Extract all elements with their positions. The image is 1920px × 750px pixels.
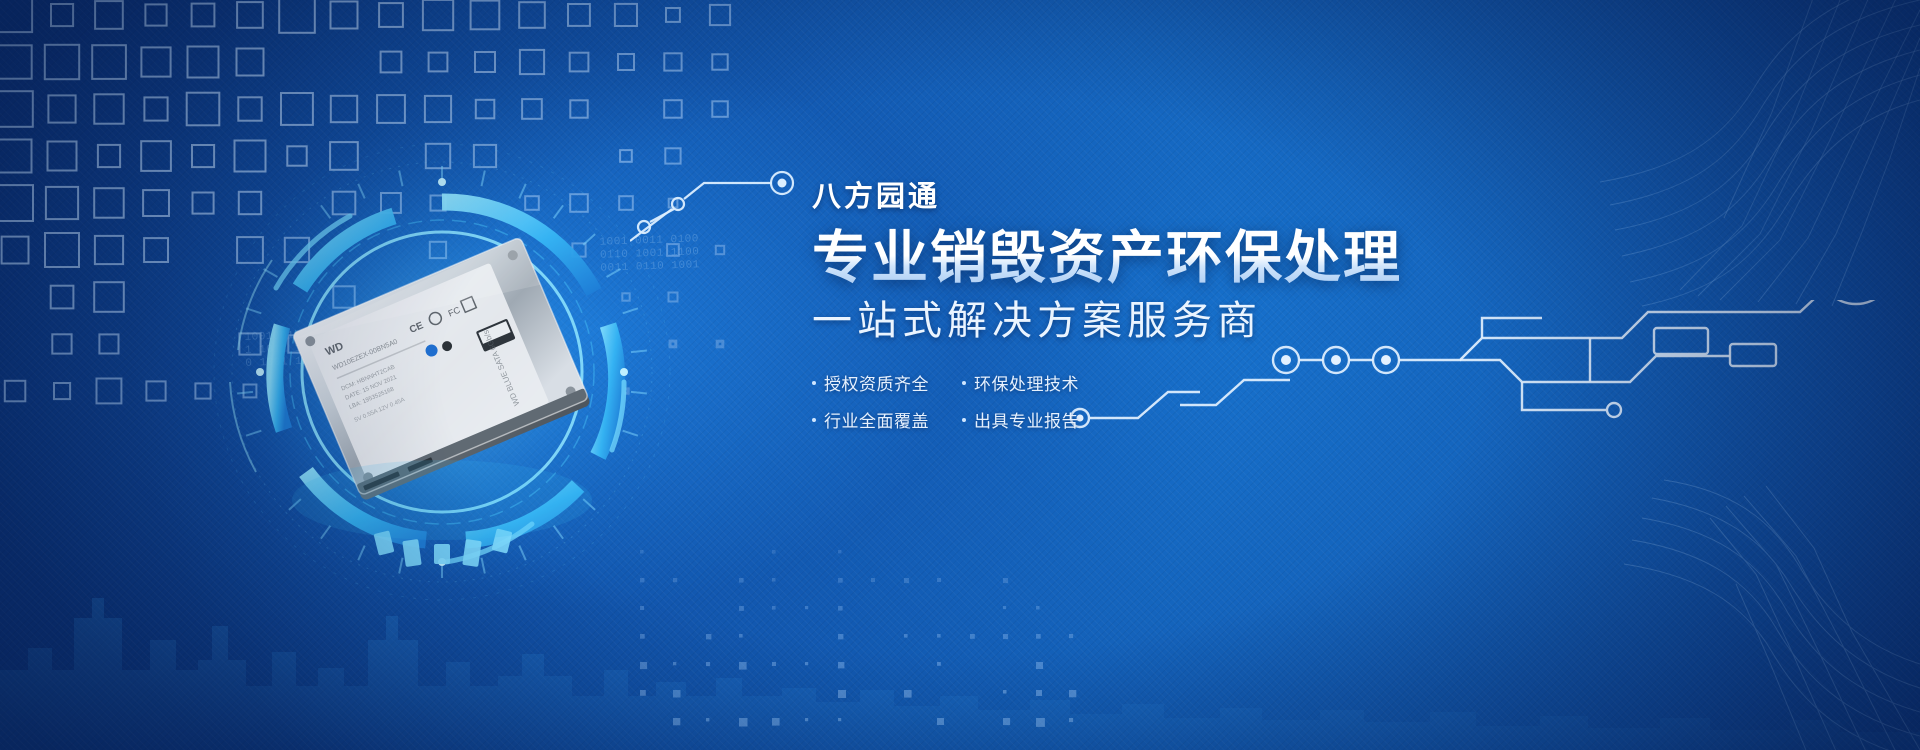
feature-item-2: 环保处理技术 [962, 370, 1132, 395]
feature-item-4: 出具专业报告 [962, 407, 1132, 432]
bullet-icon [812, 381, 816, 385]
feature-label: 出具专业报告 [974, 407, 1079, 432]
feature-item-1: 授权资质齐全 [812, 370, 944, 395]
hero-copy-block: 八方园通 专业销毁资产环保处理 一站式解决方案服务商 授权资质齐全 环保处理技术… [812, 182, 1512, 432]
bullet-icon [962, 418, 966, 422]
bullet-icon [812, 418, 816, 422]
feature-list: 授权资质齐全 环保处理技术 行业全面覆盖 出具专业报告 [812, 370, 1132, 432]
hero-banner: 1001 0011 0100 0110 1001 1100 0011 0110 … [0, 0, 1920, 750]
city-skyline-silhouette [0, 520, 1920, 750]
feature-label: 授权资质齐全 [824, 370, 929, 395]
feature-item-3: 行业全面覆盖 [812, 407, 944, 432]
feature-label: 环保处理技术 [974, 370, 1079, 395]
hero-subheadline: 一站式解决方案服务商 [812, 298, 1512, 344]
brand-name: 八方园通 [812, 182, 1512, 214]
hero-headline: 专业销毁资产环保处理 [812, 228, 1512, 288]
bullet-icon [962, 381, 966, 385]
feature-label: 行业全面覆盖 [824, 407, 929, 432]
